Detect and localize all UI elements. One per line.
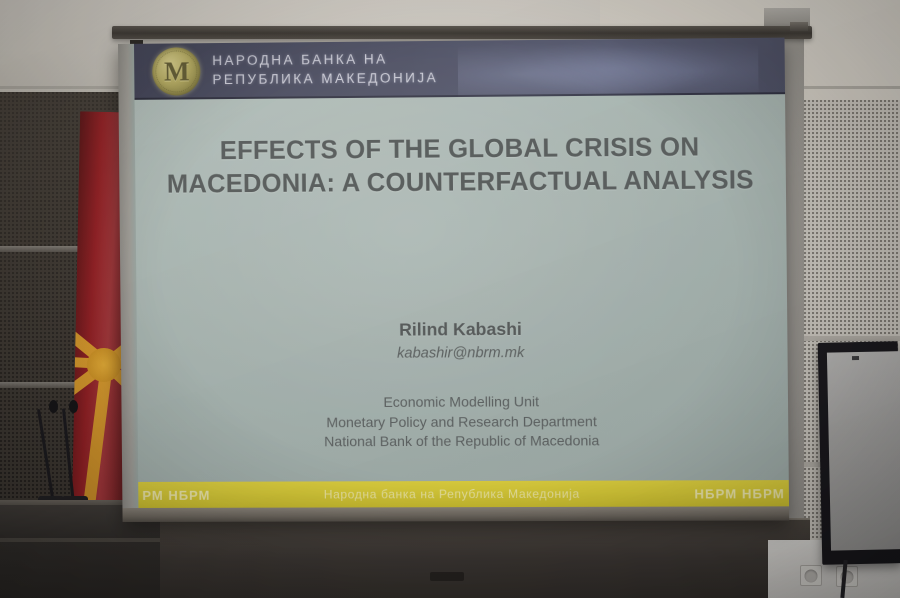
bank-name-line-2: РЕПУБЛИКА МАКЕДОНИЈА — [212, 68, 438, 89]
author-email: kabashir@nbrm.mk — [137, 344, 788, 363]
lower-wall-panel — [120, 520, 810, 598]
footer-mark-right: НБРМ НБРМ — [694, 486, 785, 501]
footer-row: РМ НБРМ Народна банка на Република Макед… — [138, 480, 789, 508]
presentation-slide: M НАРОДНА БАНКА НА РЕПУБЛИКА МАКЕДОНИЈА … — [134, 38, 789, 508]
bank-name-block: НАРОДНА БАНКА НА РЕПУБЛИКА МАКЕДОНИЈА — [212, 49, 438, 89]
author-name: Rilind Kabashi — [137, 317, 788, 342]
footer-center-text: Народна банка на Република Македонија — [324, 487, 580, 502]
banknote-motif — [458, 38, 759, 100]
flipchart-paper — [827, 351, 900, 550]
wall-right-groove-upper — [800, 336, 900, 341]
projection-screen: M НАРОДНА БАНКА НА РЕПУБЛИКА МАКЕДОНИЈА … — [118, 38, 789, 522]
affiliation-line-2: Monetary Policy and Research Department — [138, 411, 789, 433]
flipchart-board — [818, 341, 900, 565]
desk-trim — [0, 538, 160, 542]
affiliation-line-1: Economic Modelling Unit — [137, 391, 788, 413]
bank-name-line-1: НАРОДНА БАНКА НА — [212, 49, 438, 70]
affiliation-block: Economic Modelling Unit Monetary Policy … — [137, 391, 788, 452]
slide-title: EFFECTS OF THE GLOBAL CRISIS ON MACEDONI… — [161, 131, 760, 202]
seal-monogram: M — [152, 47, 201, 95]
projection-screen-housing — [112, 26, 812, 39]
screen-mount-bracket-right — [790, 22, 808, 31]
slide-header-bar: M НАРОДНА БАНКА НА РЕПУБЛИКА МАКЕДОНИЈА — [134, 38, 785, 100]
power-outlet-1[interactable] — [800, 565, 822, 586]
footer-mark-left: РМ НБРМ — [142, 487, 210, 502]
microphone-head-2 — [69, 400, 78, 413]
affiliation-line-3: National Bank of the Republic of Macedon… — [138, 431, 789, 453]
slide-footer-bar: РМ НБРМ Народна банка на Република Макед… — [138, 480, 789, 508]
screen-weight-bar — [122, 506, 789, 522]
conference-room-photo: M НАРОДНА БАНКА НА РЕПУБЛИКА МАКЕДОНИЈА … — [0, 0, 900, 598]
microphone-head-1 — [49, 400, 58, 413]
lower-wall-fixture — [430, 572, 464, 581]
nbrm-coin-seal-icon: M — [152, 47, 201, 95]
flipchart-clip — [852, 356, 859, 360]
power-outlet-2[interactable] — [836, 566, 858, 587]
